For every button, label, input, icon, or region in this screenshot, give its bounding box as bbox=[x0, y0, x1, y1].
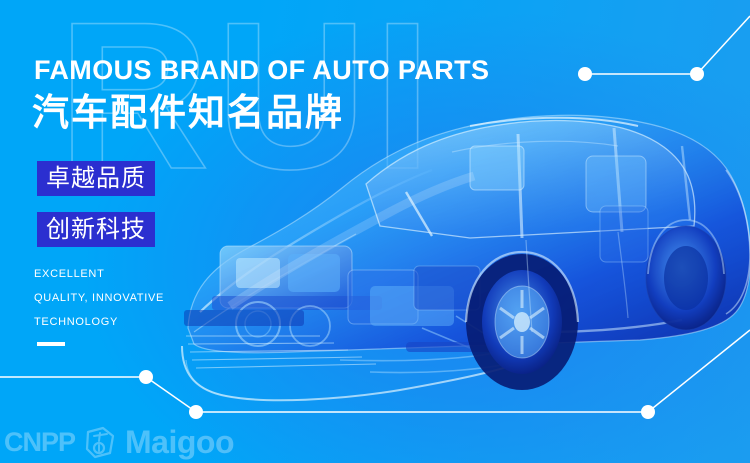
headline-chinese: 汽车配件知名品牌 bbox=[32, 93, 344, 134]
badge-quality: 卓越品质 bbox=[37, 161, 155, 196]
maigoo-shield-logo-icon bbox=[83, 425, 117, 459]
accent-rule bbox=[37, 342, 65, 346]
watermark-cnpp-text: CNPP bbox=[4, 429, 75, 456]
promo-banner: RUI bbox=[0, 0, 750, 463]
subtitle-line-1: EXCELLENT bbox=[34, 262, 164, 286]
headline-english: FAMOUS BRAND OF AUTO PARTS bbox=[34, 57, 489, 84]
badge-technology: 创新科技 bbox=[37, 212, 155, 247]
watermark-maigoo-text: Maigoo bbox=[125, 426, 234, 458]
site-watermark: CNPP Maigoo bbox=[4, 425, 234, 459]
subtitle-line-3: TECHNOLOGY bbox=[34, 310, 164, 334]
banner-content: FAMOUS BRAND OF AUTO PARTS 汽车配件知名品牌 卓越品质… bbox=[0, 0, 750, 463]
subtitle-line-2: QUALITY, INNOVATIVE bbox=[34, 286, 164, 310]
subtitle-block: EXCELLENT QUALITY, INNOVATIVE TECHNOLOGY bbox=[34, 262, 164, 334]
